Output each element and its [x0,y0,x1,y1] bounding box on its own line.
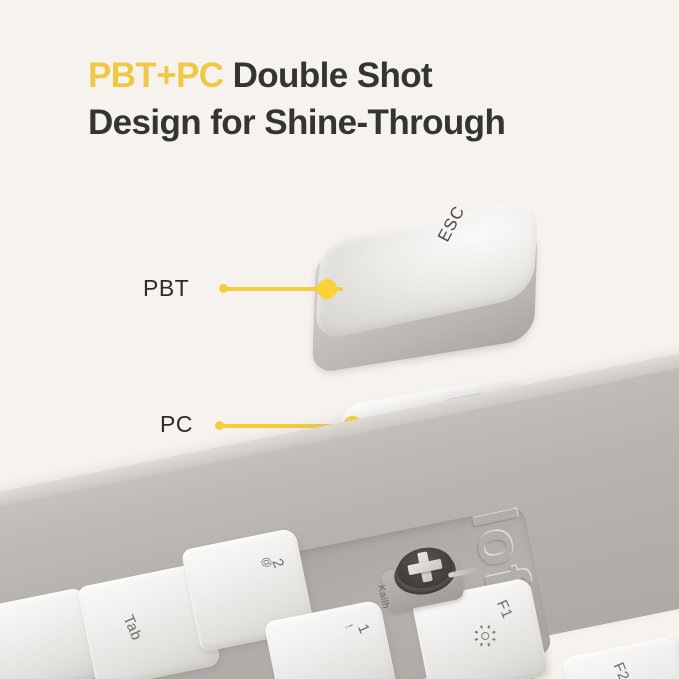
brightness-ray [492,638,496,641]
headline-line2: Design for Shine-Through [88,103,505,142]
key-sublabel-exclaim: ! [342,623,354,631]
brightness-ray [487,625,490,629]
callout-label-pbt: PBT [143,275,189,302]
callout-dot-large-pbt [317,279,337,299]
callout-dot-small-pbt [219,284,228,293]
headline-rest-line1: Double Shot [223,56,432,95]
brightness-ray [492,631,496,634]
callout-label-pc: PC [160,411,193,438]
brightness-icon-core [480,631,491,642]
brightness-ray [475,638,479,641]
key-label-f1: F1 [493,598,516,622]
key-label-1: 1 [354,622,373,637]
product-marketing-image: PBT+PC Double Shot Design for Shine-Thro… [0,0,679,679]
brightness-ray [480,643,483,647]
brightness-ray [487,642,490,646]
callout-dot-small-pc [215,421,224,430]
mechanical-switch: Kailh [382,530,478,626]
brightness-ray [480,625,483,629]
headline-accent: PBT+PC [88,56,223,95]
key-label-f2: F2 [610,660,633,679]
brightness-ray [475,631,479,634]
pbt-keycap: ESC [308,218,548,358]
key-label-tab: Tab [119,613,145,644]
page-title: PBT+PC Double Shot Design for Shine-Thro… [88,52,628,146]
